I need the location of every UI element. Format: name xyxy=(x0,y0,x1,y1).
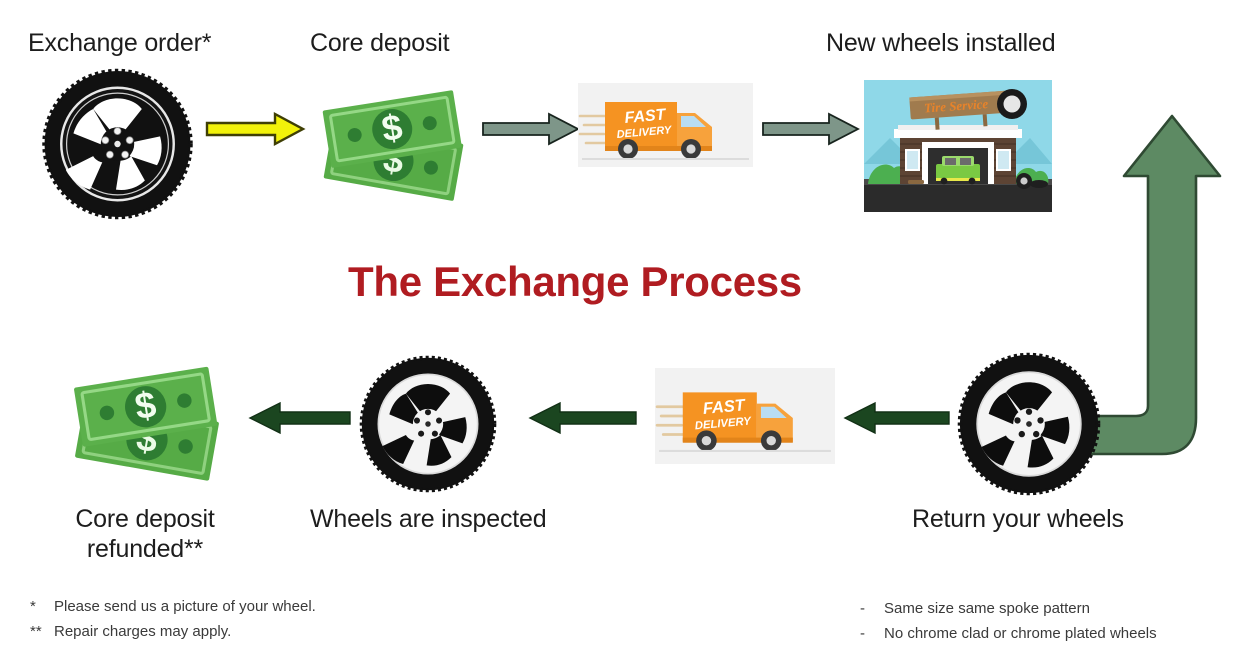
cash-money-icon-refund: $ $ xyxy=(58,352,238,484)
footnote-right-1: -Same size same spoke pattern xyxy=(860,596,1090,621)
arrow-right-yellow xyxy=(205,112,305,146)
truck-text-fast: FAST xyxy=(702,396,747,418)
footnote-marker: * xyxy=(30,594,54,619)
wheel-icon-return xyxy=(955,352,1103,496)
footnote-marker: - xyxy=(860,621,884,646)
delivery-truck-icon-inbound: FAST DELIVERY xyxy=(655,368,835,464)
footnote-left-2: **Repair charges may apply. xyxy=(30,619,231,644)
wheel-icon-exchange-order xyxy=(40,68,195,220)
footnote-text: Repair charges may apply. xyxy=(54,623,231,640)
footnote-text: No chrome clad or chrome plated wheels xyxy=(884,625,1157,642)
arrow-right-sage-2 xyxy=(763,113,859,145)
label-return-your-wheels: Return your wheels xyxy=(912,504,1124,534)
wheel-icon-inspected xyxy=(358,355,498,493)
footnote-right-2: -No chrome clad or chrome plated wheels xyxy=(860,621,1157,646)
label-wheels-inspected: Wheels are inspected xyxy=(310,504,546,534)
footnote-marker: - xyxy=(860,596,884,621)
page-title: The Exchange Process xyxy=(348,258,802,306)
label-core-deposit: Core deposit xyxy=(310,28,449,58)
footnote-marker: ** xyxy=(30,619,54,644)
delivery-truck-icon-outbound: FAST DELIVERY xyxy=(578,83,753,167)
arrow-right-sage-1 xyxy=(483,113,579,145)
label-exchange-order: Exchange order* xyxy=(28,28,211,58)
exchange-process-diagram: Exchange order* Core deposit New wheels … xyxy=(0,0,1250,666)
label-new-wheels-installed: New wheels installed xyxy=(826,28,1055,58)
footnote-text: Please send us a picture of your wheel. xyxy=(54,598,316,615)
footnote-text: Same size same spoke pattern xyxy=(884,600,1090,617)
arrow-left-green-1 xyxy=(248,402,350,434)
footnote-left-1: *Please send us a picture of your wheel. xyxy=(30,594,316,619)
tire-service-shop-icon: Tire Service xyxy=(864,80,1052,212)
arrow-left-green-2 xyxy=(528,402,636,434)
label-core-deposit-refunded: Core deposit refunded** xyxy=(30,504,260,564)
cash-money-icon-core-deposit: $ $ xyxy=(313,76,476,204)
arrow-left-green-3 xyxy=(843,402,949,434)
